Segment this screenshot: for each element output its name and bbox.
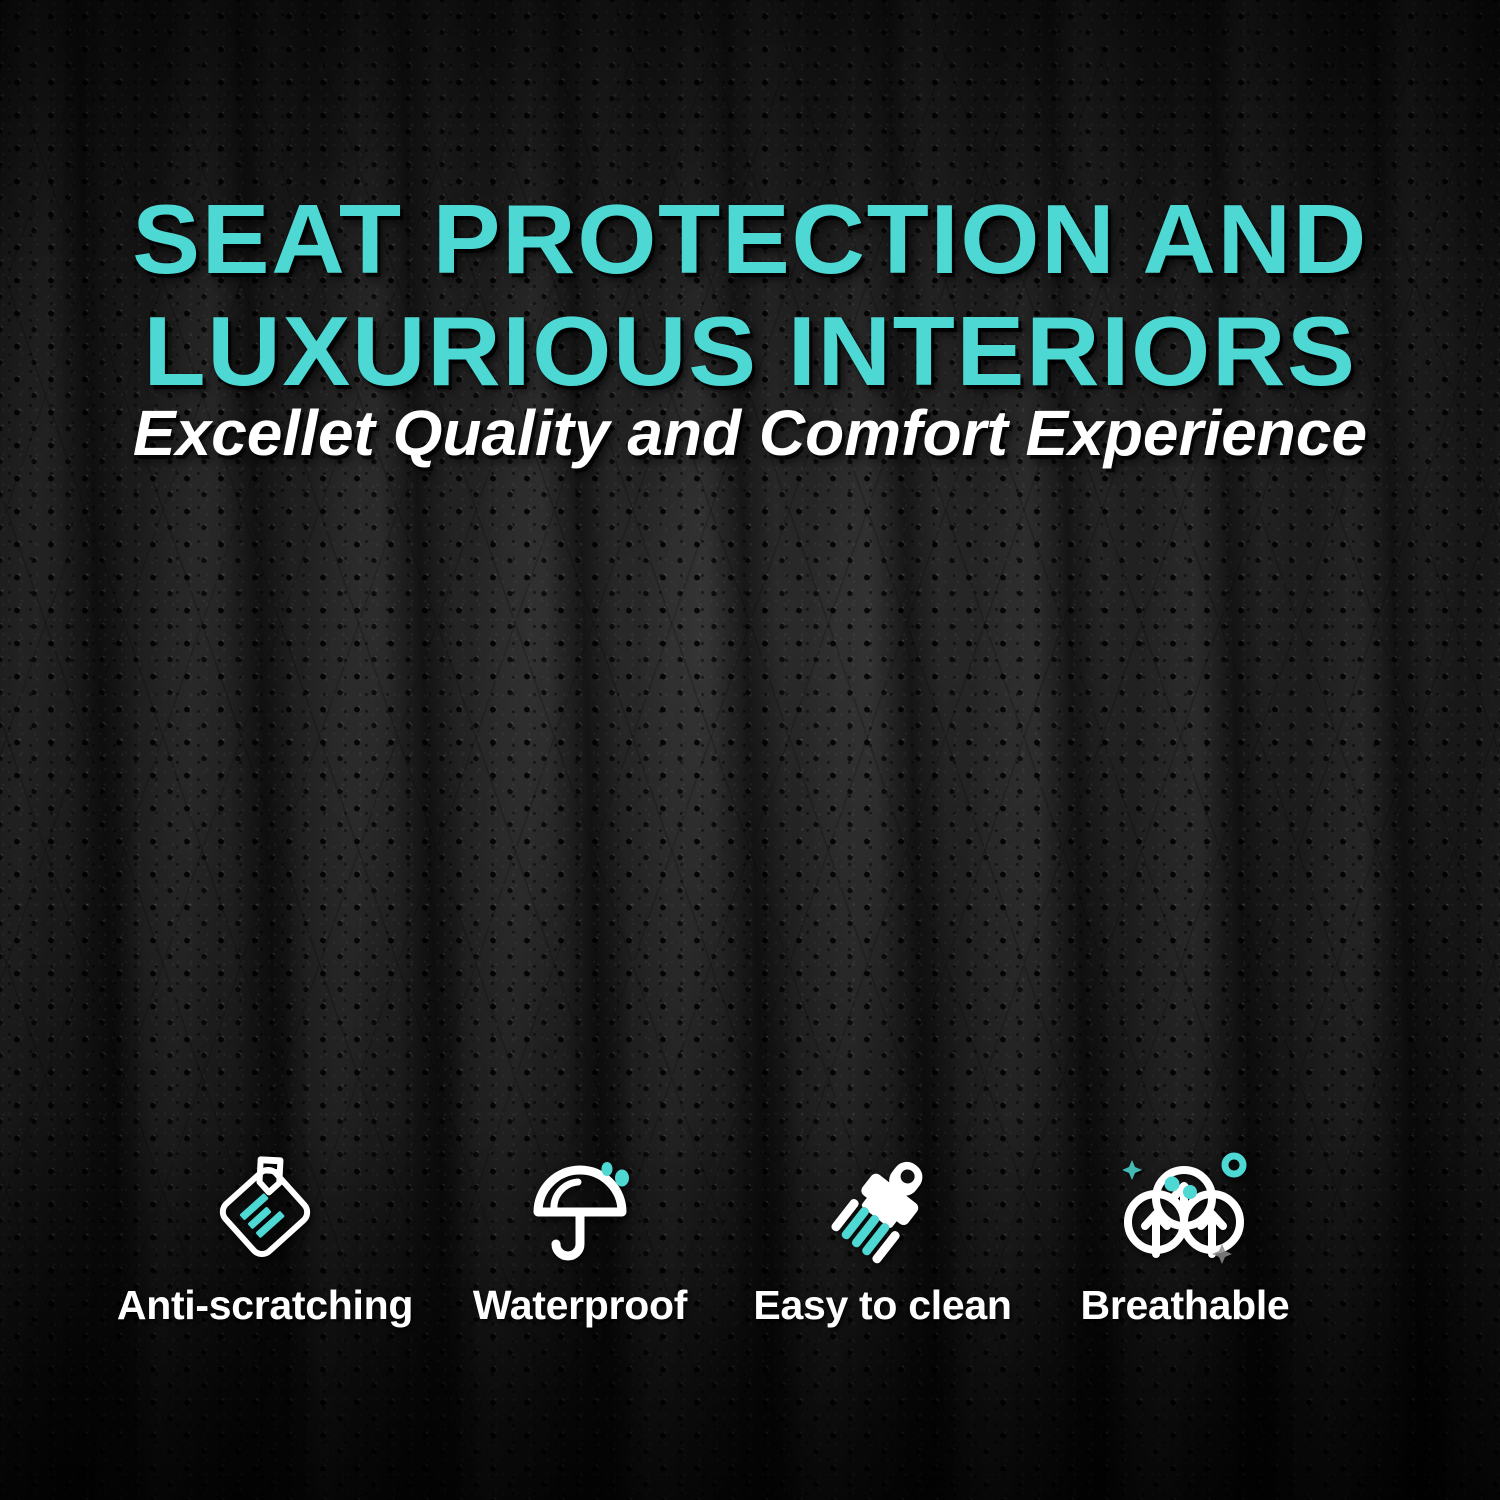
feature-label-waterproof: Waterproof (473, 1282, 687, 1329)
feature-item-breathable: Breathable (1035, 1152, 1335, 1329)
feature-item-waterproof: Waterproof (430, 1152, 730, 1329)
feature-label-breathable: Breathable (1081, 1282, 1290, 1329)
feature-item-anti-scratching: Anti-scratching (100, 1152, 430, 1329)
headline-line-1: SEAT PROTECTION AND (0, 186, 1500, 294)
scratch-card-pen-icon (211, 1152, 319, 1264)
headline-line-2: LUXURIOUS INTERIORS (0, 298, 1500, 406)
product-feature-banner: SEAT PROTECTION AND LUXURIOUS INTERIORS … (0, 0, 1500, 1500)
feature-label-anti-scratching: Anti-scratching (117, 1282, 413, 1329)
cleaning-brush-icon (828, 1152, 938, 1264)
headline: SEAT PROTECTION AND LUXURIOUS INTERIORS (0, 186, 1500, 406)
feature-item-easy-to-clean: Easy to clean (730, 1152, 1035, 1329)
feature-label-easy-to-clean: Easy to clean (753, 1282, 1011, 1329)
umbrella-raindrops-icon (528, 1152, 632, 1264)
feature-list: Anti-scratching (100, 1152, 1400, 1329)
subtitle: Excellet Quality and Comfort Experience (0, 398, 1500, 468)
banner-content: SEAT PROTECTION AND LUXURIOUS INTERIORS … (0, 0, 1500, 1500)
airflow-clouds-arrows-icon (1122, 1152, 1248, 1264)
